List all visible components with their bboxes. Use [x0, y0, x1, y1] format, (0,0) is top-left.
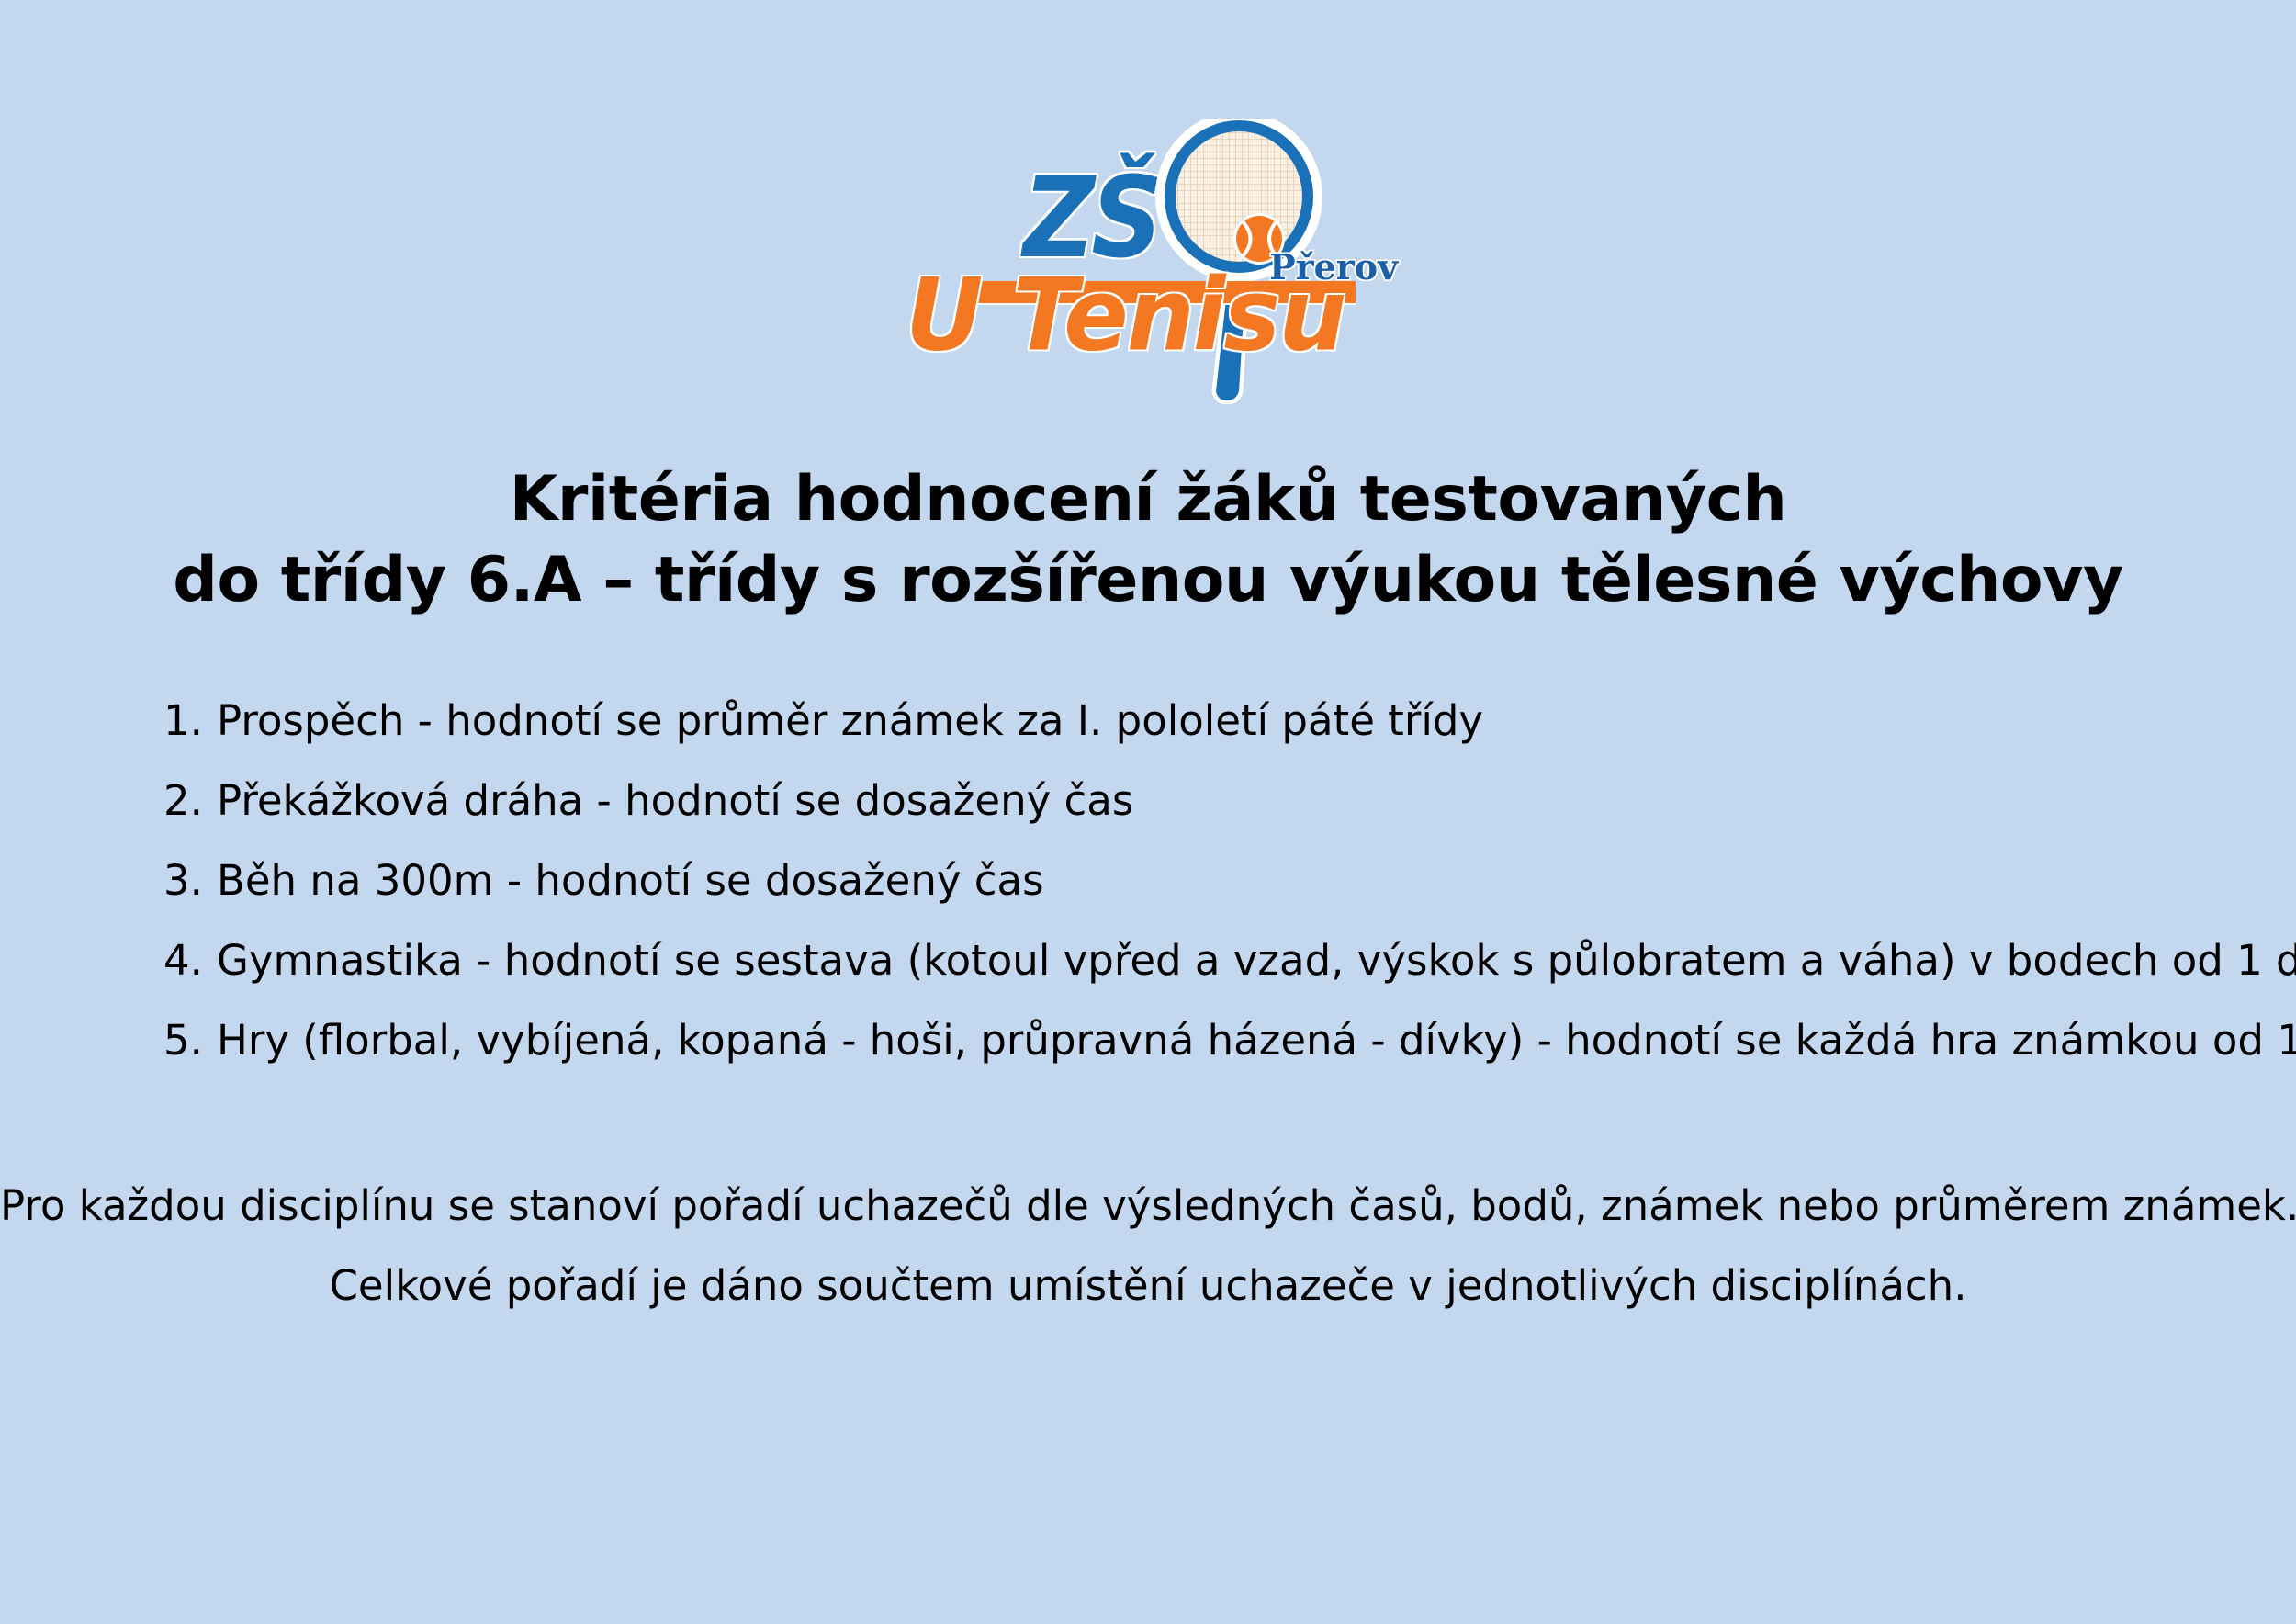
- list-item-text: Prospěch - hodnotí se průměr známek za I…: [217, 700, 2221, 741]
- list-item-number: 1.: [163, 700, 217, 741]
- list-item: 4. Gymnastika - hodnotí se sestava (koto…: [163, 940, 2221, 981]
- list-item-text: Běh na 300m - hodnotí se dosažený čas: [217, 860, 2221, 901]
- list-item-text: Překážková dráha - hodnotí se dosažený č…: [217, 780, 2221, 821]
- page-title: Kritéria hodnocení žáků testovaných do t…: [0, 459, 2296, 622]
- page-title-line-2: do třídy 6.A – třídy s rozšířenou výukou…: [0, 540, 2296, 621]
- closing-note-1: Pro každou disciplínu se stanoví pořadí …: [0, 1185, 2296, 1226]
- list-item: 2. Překážková dráha - hodnotí se dosažen…: [163, 780, 2221, 821]
- logo-inner: ZŠ U Tenisu Přerov: [884, 110, 1398, 404]
- closing-notes: Pro každou disciplínu se stanoví pořadí …: [0, 1185, 2296, 1345]
- list-item: 3. Běh na 300m - hodnotí se dosažený čas: [163, 860, 2221, 901]
- page-title-line-1: Kritéria hodnocení žáků testovaných: [0, 459, 2296, 540]
- list-item-text: Hry (florbal, vybíjená, kopaná - hoši, p…: [217, 1020, 2296, 1061]
- list-item: 1. Prospěch - hodnotí se průměr známek z…: [163, 700, 2221, 741]
- logo-city-text: Přerov: [1269, 250, 1398, 285]
- criteria-list: 1. Prospěch - hodnotí se průměr známek z…: [163, 700, 2221, 1100]
- school-logo: ZŠ U Tenisu Přerov: [0, 110, 2296, 404]
- list-item-number: 2.: [163, 780, 217, 821]
- list-item-number: 3.: [163, 860, 217, 901]
- list-item: 5. Hry (florbal, vybíjená, kopaná - hoši…: [163, 1020, 2221, 1061]
- closing-note-2: Celkové pořadí je dáno součtem umístění …: [0, 1265, 2296, 1306]
- list-item-text: Gymnastika - hodnotí se sestava (kotoul …: [217, 940, 2296, 981]
- list-item-number: 5.: [163, 1020, 217, 1061]
- list-item-number: 4.: [163, 940, 217, 981]
